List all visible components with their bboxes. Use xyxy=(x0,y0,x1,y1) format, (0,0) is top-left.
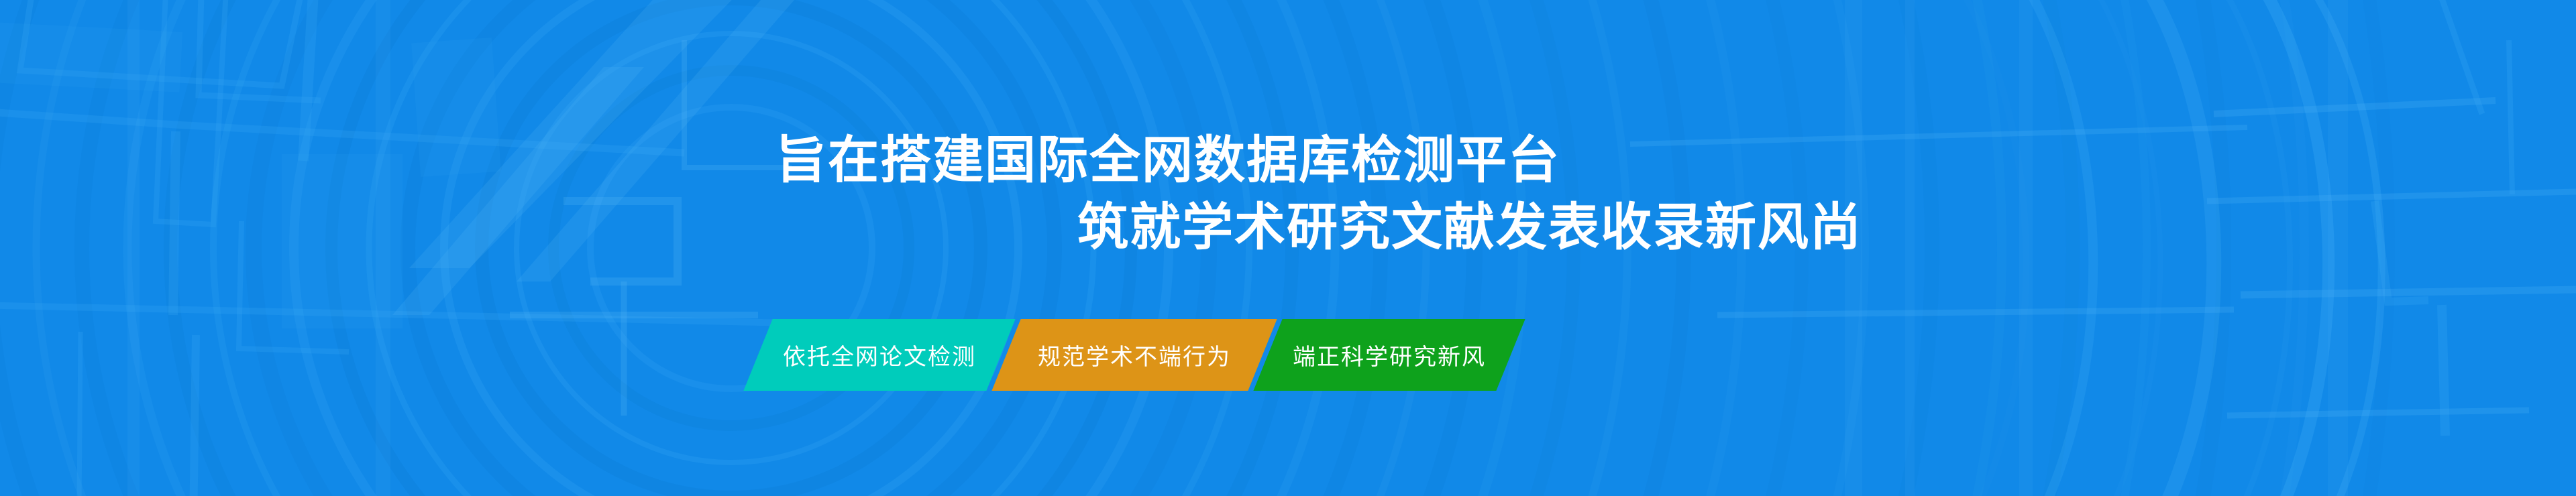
feature-tag-misconduct-label: 规范学术不端行为 xyxy=(1038,338,1231,371)
promo-banner: 旨在搭建国际全网数据库检测平台 筑就学术研究文献发表收录新风尚 依托全网论文检测… xyxy=(0,0,2576,496)
feature-tag-strip: 依托全网论文检测 规范学术不端行为 端正科学研究新风 xyxy=(758,319,1511,391)
headline-block: 旨在搭建国际全网数据库检测平台 筑就学术研究文献发表收录新风尚 xyxy=(0,127,2576,261)
headline-line-2: 筑就学术研究文献发表收录新风尚 xyxy=(1077,194,2576,261)
feature-tag-detection-label: 依托全网论文检测 xyxy=(783,338,976,371)
headline-line-1: 旨在搭建国际全网数据库检测平台 xyxy=(775,127,2576,194)
feature-tag-misconduct[interactable]: 规范学术不端行为 xyxy=(991,319,1277,391)
feature-tag-research-ethos[interactable]: 端正科学研究新风 xyxy=(1253,319,1525,391)
feature-tag-research-ethos-label: 端正科学研究新风 xyxy=(1293,338,1486,371)
banner-content: 旨在搭建国际全网数据库检测平台 筑就学术研究文献发表收录新风尚 依托全网论文检测… xyxy=(0,0,2576,496)
feature-tag-detection[interactable]: 依托全网论文检测 xyxy=(743,319,1015,391)
